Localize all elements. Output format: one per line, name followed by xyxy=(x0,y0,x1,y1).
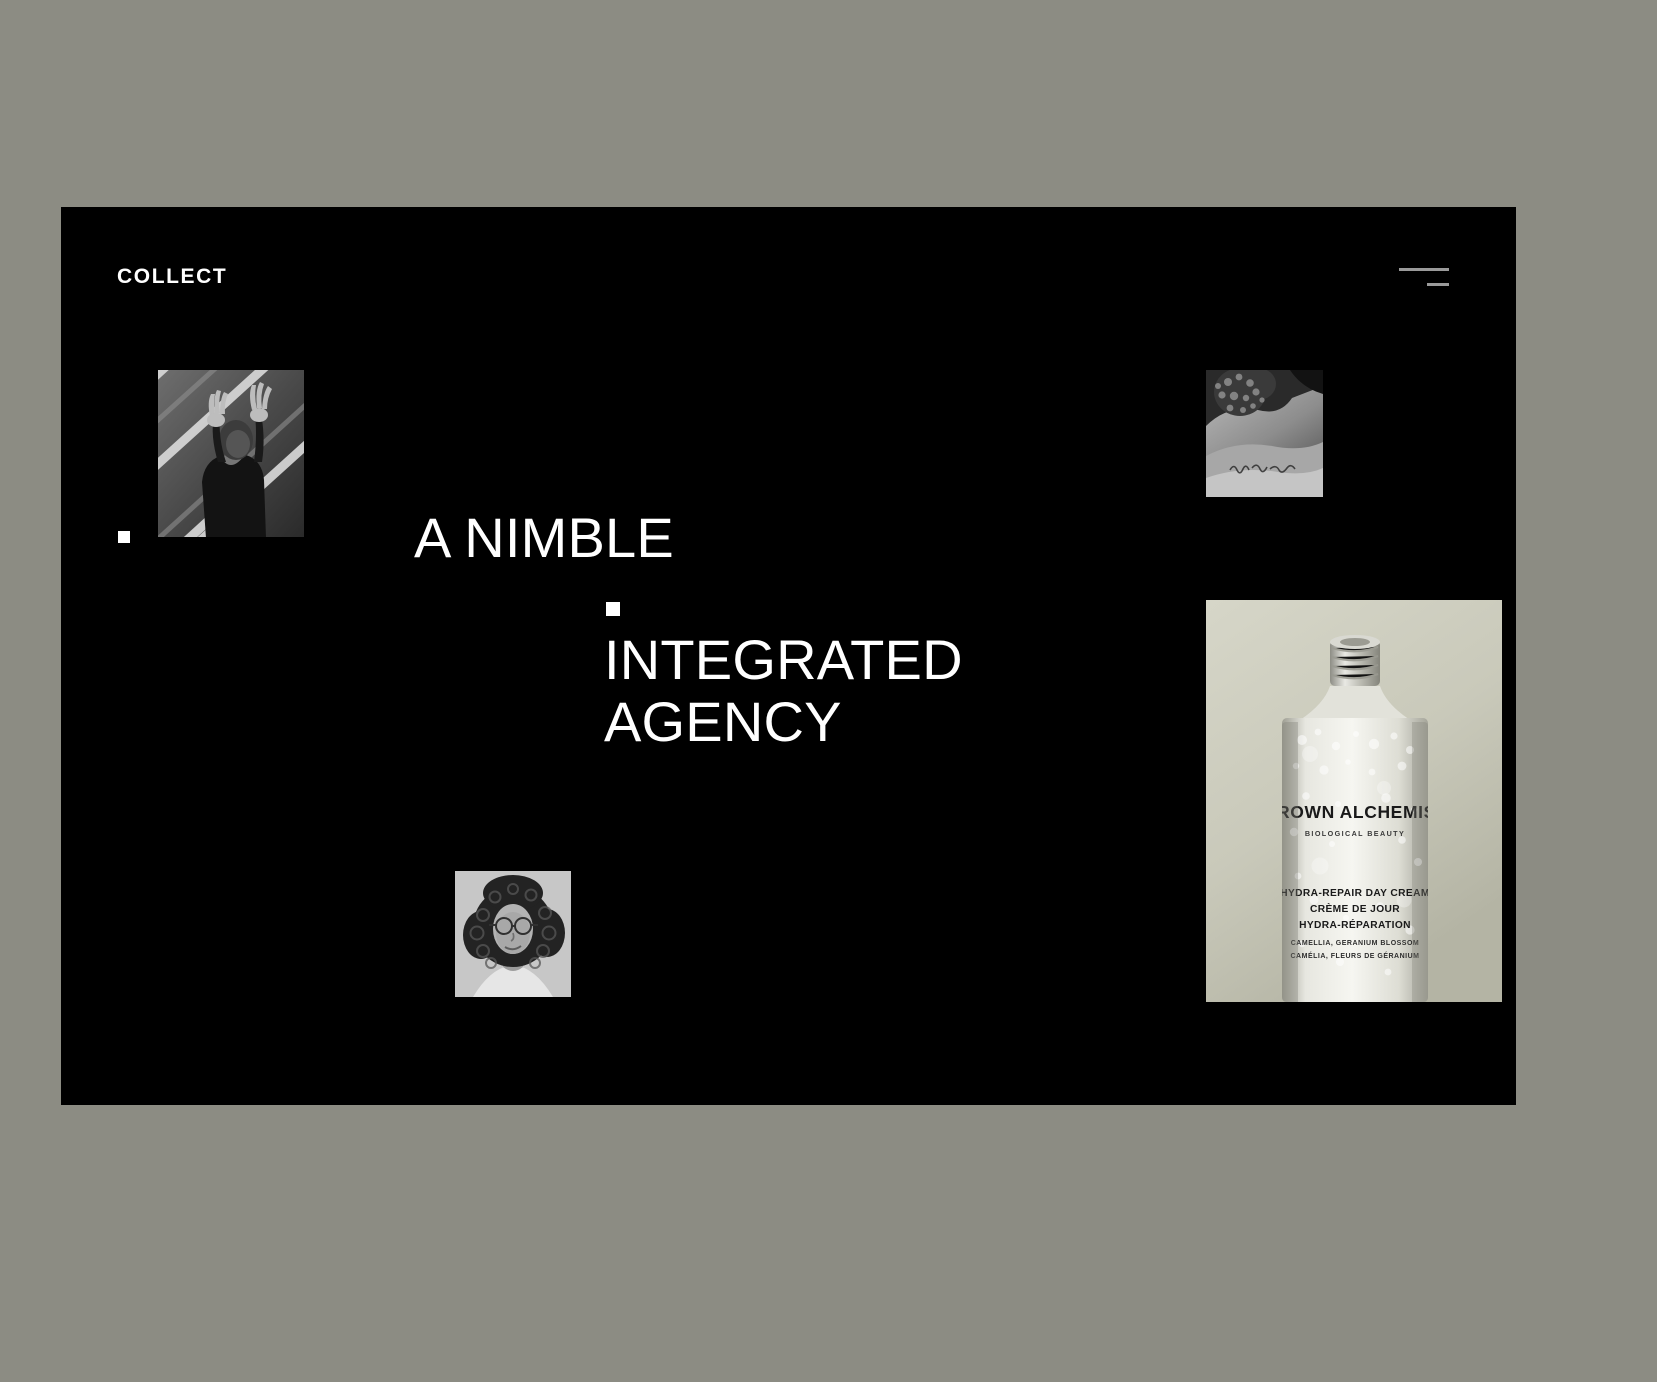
tattoo-photo-image xyxy=(1206,370,1323,497)
headline-line-3: AGENCY xyxy=(604,692,842,751)
hamburger-menu-icon[interactable] xyxy=(1397,262,1449,292)
hero-canvas: COLLECT A NIMBLE INTEGRATED AGENCY xyxy=(61,207,1516,1105)
square-bullet-icon-left xyxy=(118,531,130,543)
headline-line-2: INTEGRATED xyxy=(604,630,963,689)
dancer-photo-image xyxy=(158,370,304,537)
hamburger-bar-bottom xyxy=(1427,283,1449,286)
svg-text:HYDRA-REPAIR DAY CREAM: HYDRA-REPAIR DAY CREAM xyxy=(1280,888,1430,899)
tattoo-photo[interactable] xyxy=(1206,370,1323,497)
product-photo[interactable]: GROWN ALCHEMIST BIOLOGICAL BEAUTY HYDRA-… xyxy=(1206,600,1502,1002)
svg-text:BIOLOGICAL BEAUTY: BIOLOGICAL BEAUTY xyxy=(1305,829,1405,838)
site-footer: MUSTERSTRASSE 123, 10115 BERLIN, GERMANY… xyxy=(61,955,1516,1105)
headline-line-1: A NIMBLE xyxy=(414,508,674,567)
product-photo-image: GROWN ALCHEMIST BIOLOGICAL BEAUTY HYDRA-… xyxy=(1206,600,1502,1002)
svg-text:HYDRA-RÉPARATION: HYDRA-RÉPARATION xyxy=(1299,918,1411,931)
square-bullet-icon-center xyxy=(606,602,620,616)
site-header: COLLECT xyxy=(61,207,1516,327)
svg-text:CAMELLIA, GERANIUM BLOSSOM: CAMELLIA, GERANIUM BLOSSOM xyxy=(1291,940,1420,947)
brand-logo[interactable]: COLLECT xyxy=(117,266,227,287)
svg-text:CRÈME DE JOUR: CRÈME DE JOUR xyxy=(1310,902,1400,915)
hamburger-bar-top xyxy=(1399,268,1449,271)
dancer-photo[interactable] xyxy=(158,370,304,537)
